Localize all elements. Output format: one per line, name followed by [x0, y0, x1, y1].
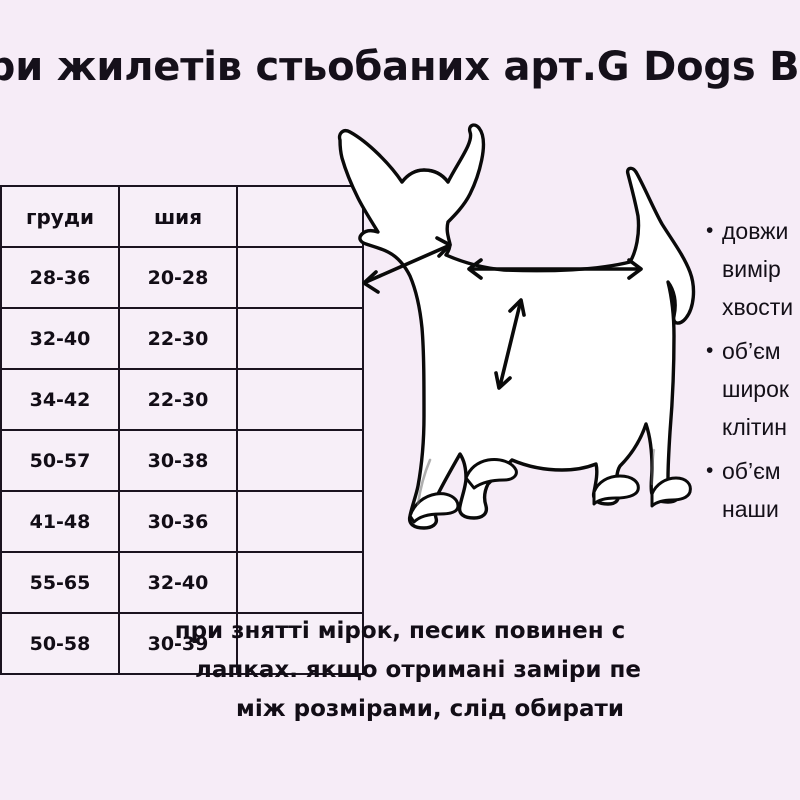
table-row: 55-65 32-40: [0, 552, 363, 613]
list-item: • об’єм наши: [706, 452, 800, 528]
measurement-notes-list: • довжи вимір хвости • об’єм широк кліти…: [706, 212, 800, 534]
table-header-cell-1: груди: [1, 186, 119, 247]
table-row: 50-57 30-38: [0, 430, 363, 491]
note-text-group: об’єм наши: [722, 452, 787, 528]
size-table-container: а груди шия 28-36 20-28 32-40 22-30: [0, 185, 306, 675]
note-line: клітин: [722, 414, 787, 440]
note-line: довжи: [722, 218, 788, 244]
table-cell: 55-65: [1, 552, 119, 613]
table-row: 41-48 30-36: [0, 491, 363, 552]
dog-silhouette-icon: [340, 125, 694, 528]
footer-line: лапках. якщо отримані заміри пе: [36, 651, 800, 690]
measuring-instruction-text: при знятті мірок, песик повинен с лапках…: [0, 612, 800, 729]
size-chart-infographic: іри жилетів стьобаних арт.G Dogs Bo а гр…: [0, 0, 800, 800]
note-line: об’єм: [722, 458, 787, 484]
table-cell: 50-57: [1, 430, 119, 491]
note-line: широк: [722, 376, 789, 402]
note-line: вимір: [722, 256, 781, 282]
note-text-group: об’єм широк клітин: [722, 332, 789, 446]
table-cell: 41-48: [1, 491, 119, 552]
table-cell: 30-36: [119, 491, 237, 552]
table-cell: 32-40: [1, 308, 119, 369]
footer-line: між розмірами, слід обирати: [60, 690, 800, 729]
table-cell: 34-42: [1, 369, 119, 430]
list-item: • довжи вимір хвости: [706, 212, 800, 326]
table-cell: 20-28: [119, 247, 237, 308]
table-header-cell-2: шия: [119, 186, 237, 247]
table-cell: [237, 552, 363, 613]
table-cell: 22-30: [119, 308, 237, 369]
note-line: об’єм: [722, 338, 787, 364]
bullet-icon: •: [706, 452, 722, 490]
table-row: 34-42 22-30: [0, 369, 363, 430]
table-cell: 32-40: [119, 552, 237, 613]
dog-measurement-diagram: [324, 112, 704, 532]
page-title: іри жилетів стьобаних арт.G Dogs Bo: [0, 44, 800, 90]
footer-line: при знятті мірок, песик повинен с: [0, 612, 800, 651]
bullet-icon: •: [706, 332, 722, 370]
bullet-icon: •: [706, 212, 722, 250]
table-header-row: а груди шия: [0, 186, 363, 247]
table-cell: 28-36: [1, 247, 119, 308]
table-cell: 30-38: [119, 430, 237, 491]
table-row: 28-36 20-28: [0, 247, 363, 308]
list-item: • об’єм широк клітин: [706, 332, 800, 446]
note-line: хвости: [722, 294, 793, 320]
size-table: а груди шия 28-36 20-28 32-40 22-30: [0, 185, 364, 675]
table-cell: 22-30: [119, 369, 237, 430]
table-row: 32-40 22-30: [0, 308, 363, 369]
note-text-group: довжи вимір хвости: [722, 212, 793, 326]
note-line: наши: [722, 496, 779, 522]
